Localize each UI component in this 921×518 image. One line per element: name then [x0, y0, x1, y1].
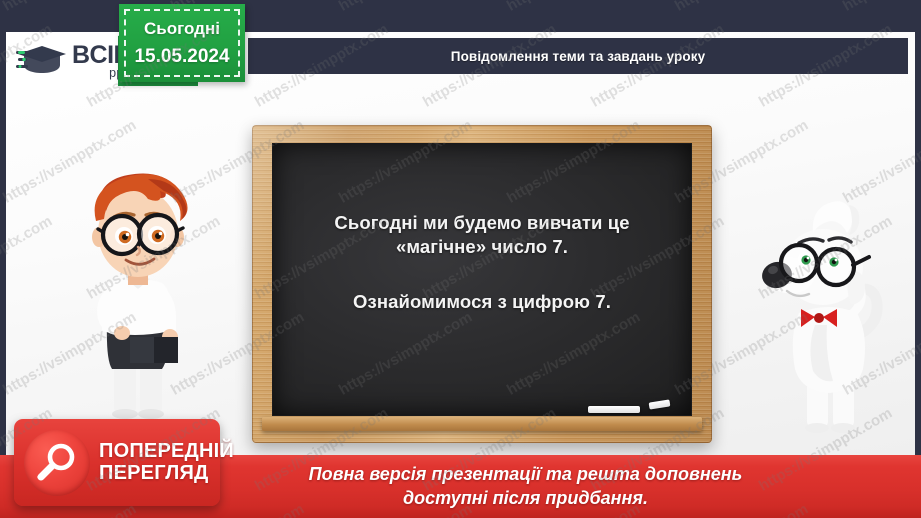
cartoon-boy-character — [52, 155, 217, 420]
presentation-slide: Повідомлення теми та завдань уроку — [0, 0, 921, 518]
chalk-stick-long — [588, 406, 640, 413]
date-badge-value: 15.05.2024 — [134, 46, 229, 68]
blackboard-line-1: Сьогодні ми будемо вивчати це — [334, 211, 629, 236]
preview-badge[interactable]: ПОПЕРЕДНІЙ ПЕРЕГЛЯД — [14, 419, 220, 506]
preview-badge-line-2: ПЕРЕГЛЯД — [99, 463, 234, 484]
blackboard-line-2: «магічне» число 7. — [396, 235, 568, 260]
preview-badge-line-1: ПОПЕРЕДНІЙ — [99, 441, 234, 462]
magnifier-icon — [24, 430, 90, 496]
cartoon-dog-character — [753, 185, 903, 435]
blackboard: Сьогодні ми будемо вивчати це «магічне» … — [252, 125, 712, 443]
bottom-notice-line-1: Повна версія презентації та решта доповн… — [150, 463, 901, 486]
chalk-ledge — [262, 417, 702, 431]
date-badge-label: Сьогодні — [144, 19, 220, 39]
date-badge: Сьогодні 15.05.2024 — [119, 4, 245, 82]
blackboard-line-3: Ознайомимося з цифрою 7. — [353, 290, 611, 315]
page-title: Повідомлення теми та завдань уроку — [451, 49, 705, 64]
blackboard-surface: Сьогодні ми будемо вивчати це «магічне» … — [273, 144, 691, 415]
header-title-bar: Повідомлення теми та завдань уроку — [248, 38, 908, 74]
bottom-notice-line-2: доступні після придбання. — [150, 487, 901, 510]
graduation-cap-icon — [16, 41, 70, 81]
preview-badge-text: ПОПЕРЕДНІЙ ПЕРЕГЛЯД — [99, 441, 234, 483]
